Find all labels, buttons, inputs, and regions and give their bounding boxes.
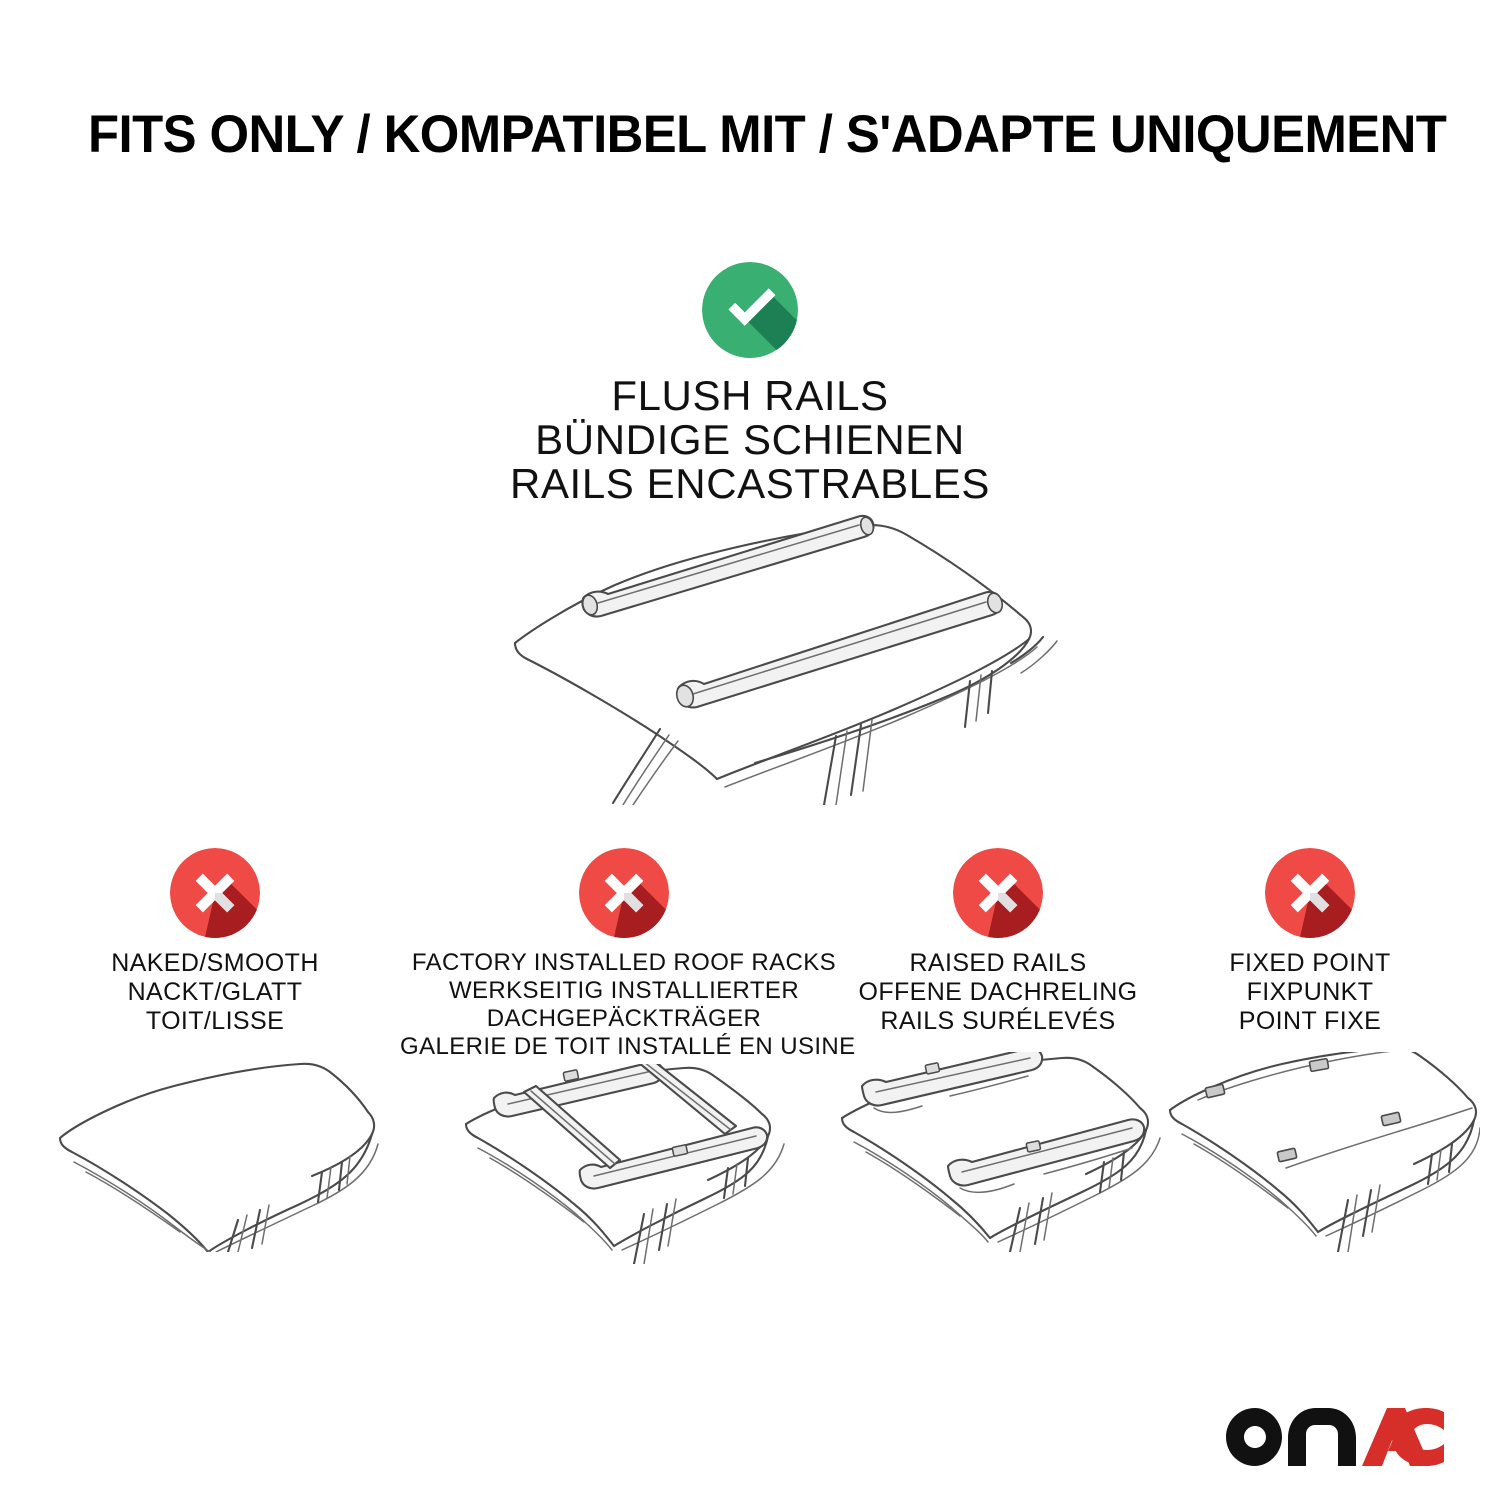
label-line-en: FACTORY INSTALLED ROOF RACKS — [400, 949, 848, 977]
incompatible-label-raised-rails: RAISED RAILS OFFENE DACHRELING RAILS SUR… — [830, 949, 1166, 1036]
car-roof-fixed-point-illustration — [1160, 1052, 1480, 1252]
compatible-line-de: BÜNDIGE SCHIENEN — [0, 418, 1500, 462]
red-x-circle-icon — [1265, 848, 1355, 938]
logo-letter-m — [1288, 1408, 1356, 1466]
label-line-de-2: DACHGEPÄCKTRÄGER — [400, 1005, 848, 1033]
car-roof-factory-roof-racks-illustration — [452, 1064, 797, 1264]
incompatible-label-naked-smooth: NAKED/SMOOTH NACKT/GLATT TOIT/LISSE — [25, 949, 405, 1036]
incompatible-column-fixed-point: FIXED POINT FIXPUNKT POINT FIXE — [1160, 848, 1460, 1252]
green-check-circle-icon — [702, 262, 798, 358]
car-roof-raised-rails-illustration — [830, 1052, 1166, 1252]
red-x-circle-icon — [170, 848, 260, 938]
label-line-fr: GALERIE DE TOIT INSTALLÉ EN USINE — [400, 1033, 848, 1061]
car-roof-flush-rails-illustration — [455, 495, 1075, 805]
logo-letter-o — [1226, 1408, 1282, 1466]
label-line-de-1: WERKSEITIG INSTALLIERTER — [400, 977, 848, 1005]
incompatible-column-naked-smooth: NAKED/SMOOTH NACKT/GLATT TOIT/LISSE — [25, 848, 405, 1252]
label-line-fr: RAILS SURÉLEVÉS — [830, 1007, 1166, 1036]
label-line-de: NACKT/GLATT — [25, 978, 405, 1007]
compatible-line-en: FLUSH RAILS — [0, 374, 1500, 418]
label-line-de: OFFENE DACHRELING — [830, 978, 1166, 1007]
label-line-de: FIXPUNKT — [1160, 978, 1460, 1007]
label-line-fr: POINT FIXE — [1160, 1007, 1460, 1036]
compatible-section: FLUSH RAILS BÜNDIGE SCHIENEN RAILS ENCAS… — [0, 262, 1500, 506]
car-roof-naked-smooth-illustration — [50, 1052, 380, 1252]
compatible-heading: FLUSH RAILS BÜNDIGE SCHIENEN RAILS ENCAS… — [0, 374, 1500, 506]
incompatible-label-fixed-point: FIXED POINT FIXPUNKT POINT FIXE — [1160, 949, 1460, 1036]
page-title: FITS ONLY / KOMPATIBEL MIT / S'ADAPTE UN… — [88, 105, 1374, 165]
omac-logo — [1222, 1404, 1444, 1476]
incompatible-column-factory-roof-racks: FACTORY INSTALLED ROOF RACKS WERKSEITIG … — [400, 848, 848, 1264]
label-line-en: RAISED RAILS — [830, 949, 1166, 978]
incompatible-label-factory-roof-racks: FACTORY INSTALLED ROOF RACKS WERKSEITIG … — [400, 949, 848, 1061]
label-line-fr: TOIT/LISSE — [25, 1007, 405, 1036]
incompatible-column-raised-rails: RAISED RAILS OFFENE DACHRELING RAILS SUR… — [830, 848, 1166, 1252]
label-line-en: FIXED POINT — [1160, 949, 1460, 978]
incompatible-section: NAKED/SMOOTH NACKT/GLATT TOIT/LISSE — [0, 848, 1500, 1318]
label-line-en: NAKED/SMOOTH — [25, 949, 405, 978]
red-x-circle-icon — [953, 848, 1043, 938]
red-x-circle-icon — [579, 848, 669, 938]
